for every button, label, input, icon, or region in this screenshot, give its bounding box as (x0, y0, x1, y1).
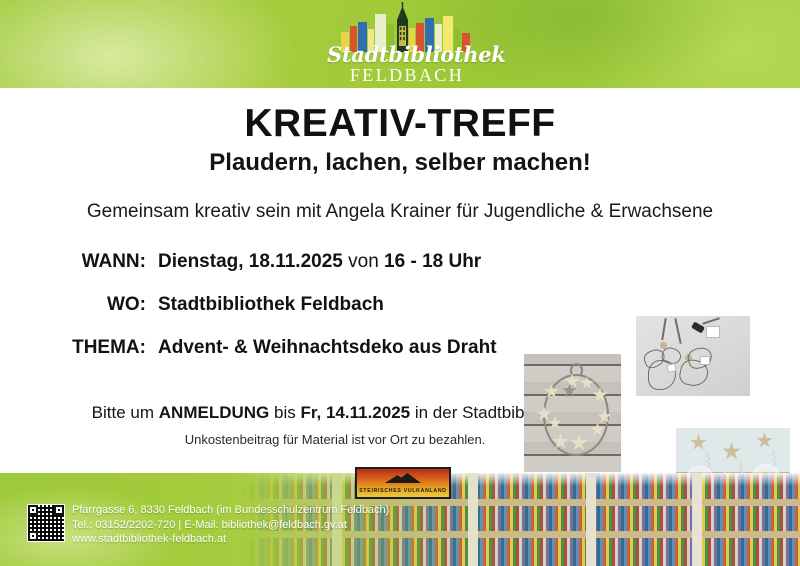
shelf-upright (468, 473, 478, 566)
vulkanland-badge-text: STEIRISCHES VULKANLAND (357, 488, 449, 494)
white-clip (706, 326, 720, 338)
wann-date: Dienstag, 18.11.2025 (158, 251, 343, 272)
signup-part2: bis (269, 403, 300, 422)
volcano-mountain-icon (385, 473, 421, 483)
shelf-upright (692, 473, 702, 566)
qr-eye (28, 531, 38, 541)
library-logo: Stadtbibliothek FELDBACH (327, 2, 487, 86)
detail-label-wann: WANN: (58, 251, 158, 273)
qr-eye (54, 505, 64, 515)
footer-address: Pfarrgasse 6, 8330 Feldbach (im Bundessc… (72, 503, 389, 518)
detail-label-wo: WO: (58, 294, 158, 316)
angel-tag (700, 356, 710, 365)
signup-anmeldung: ANMELDUNG (159, 403, 270, 422)
vulkanland-badge: STEIRISCHES VULKANLAND (355, 467, 451, 499)
detail-row-thema: THEMA: Advent- & Weihnachtsdeko aus Drah… (58, 337, 498, 359)
shelf-upright (586, 473, 596, 566)
footer-contact-block: Pfarrgasse 6, 8330 Feldbach (im Bundessc… (72, 503, 389, 547)
page-subtitle: Plaudern, lachen, selber machen! (0, 149, 800, 177)
spiral-star (690, 434, 707, 451)
detail-value-wo: Stadtbibliothek Feldbach (158, 294, 384, 316)
detail-value-wann: Dienstag, 18.11.2025 von 16 - 18 Uhr (158, 251, 481, 273)
poster-page: Stadtbibliothek FELDBACH KREATIV-TREFF P… (0, 0, 800, 566)
wire-angels-photo (636, 316, 750, 396)
signup-deadline: Fr, 14.11.2025 (300, 403, 410, 422)
angel-hanger-line (661, 318, 666, 340)
footer-website[interactable]: www.stadtbibliothek-feldbach.at (72, 532, 389, 547)
detail-value-thema: Advent- & Weihnachtsdeko aus Draht (158, 337, 497, 359)
spiral-star (722, 442, 741, 461)
lead-text: Gemeinsam kreativ sein mit Angela Kraine… (0, 201, 800, 223)
logo-sub-name: FELDBACH (327, 66, 487, 84)
wann-connector: von (348, 251, 379, 272)
qr-code-pattern (28, 505, 64, 541)
star-wreath-photo (524, 354, 621, 472)
angel-hanger-line (674, 318, 681, 344)
detail-row-wo: WO: Stadtbibliothek Feldbach (58, 294, 498, 316)
main-content: KREATIV-TREFF Plaudern, lachen, selber m… (0, 88, 800, 473)
header-band: Stadtbibliothek FELDBACH (0, 0, 800, 88)
footer-contact: Tel.: 03152/2202-720 | E-Mail: bibliothe… (72, 518, 389, 533)
signup-part1: Bitte um (92, 403, 159, 422)
qr-code-icon[interactable] (27, 504, 65, 542)
spiral-star (756, 432, 773, 449)
qr-eye (28, 505, 38, 515)
event-details: WANN: Dienstag, 18.11.2025 von 16 - 18 U… (58, 251, 498, 380)
detail-label-thema: THEMA: (58, 337, 158, 359)
page-title: KREATIV-TREFF (0, 102, 800, 146)
logo-script-name: Stadtbibliothek (327, 44, 487, 65)
angel-wire-line (702, 317, 720, 324)
wann-time: 16 - 18 Uhr (384, 251, 481, 272)
detail-row-wann: WANN: Dienstag, 18.11.2025 von 16 - 18 U… (58, 251, 498, 273)
